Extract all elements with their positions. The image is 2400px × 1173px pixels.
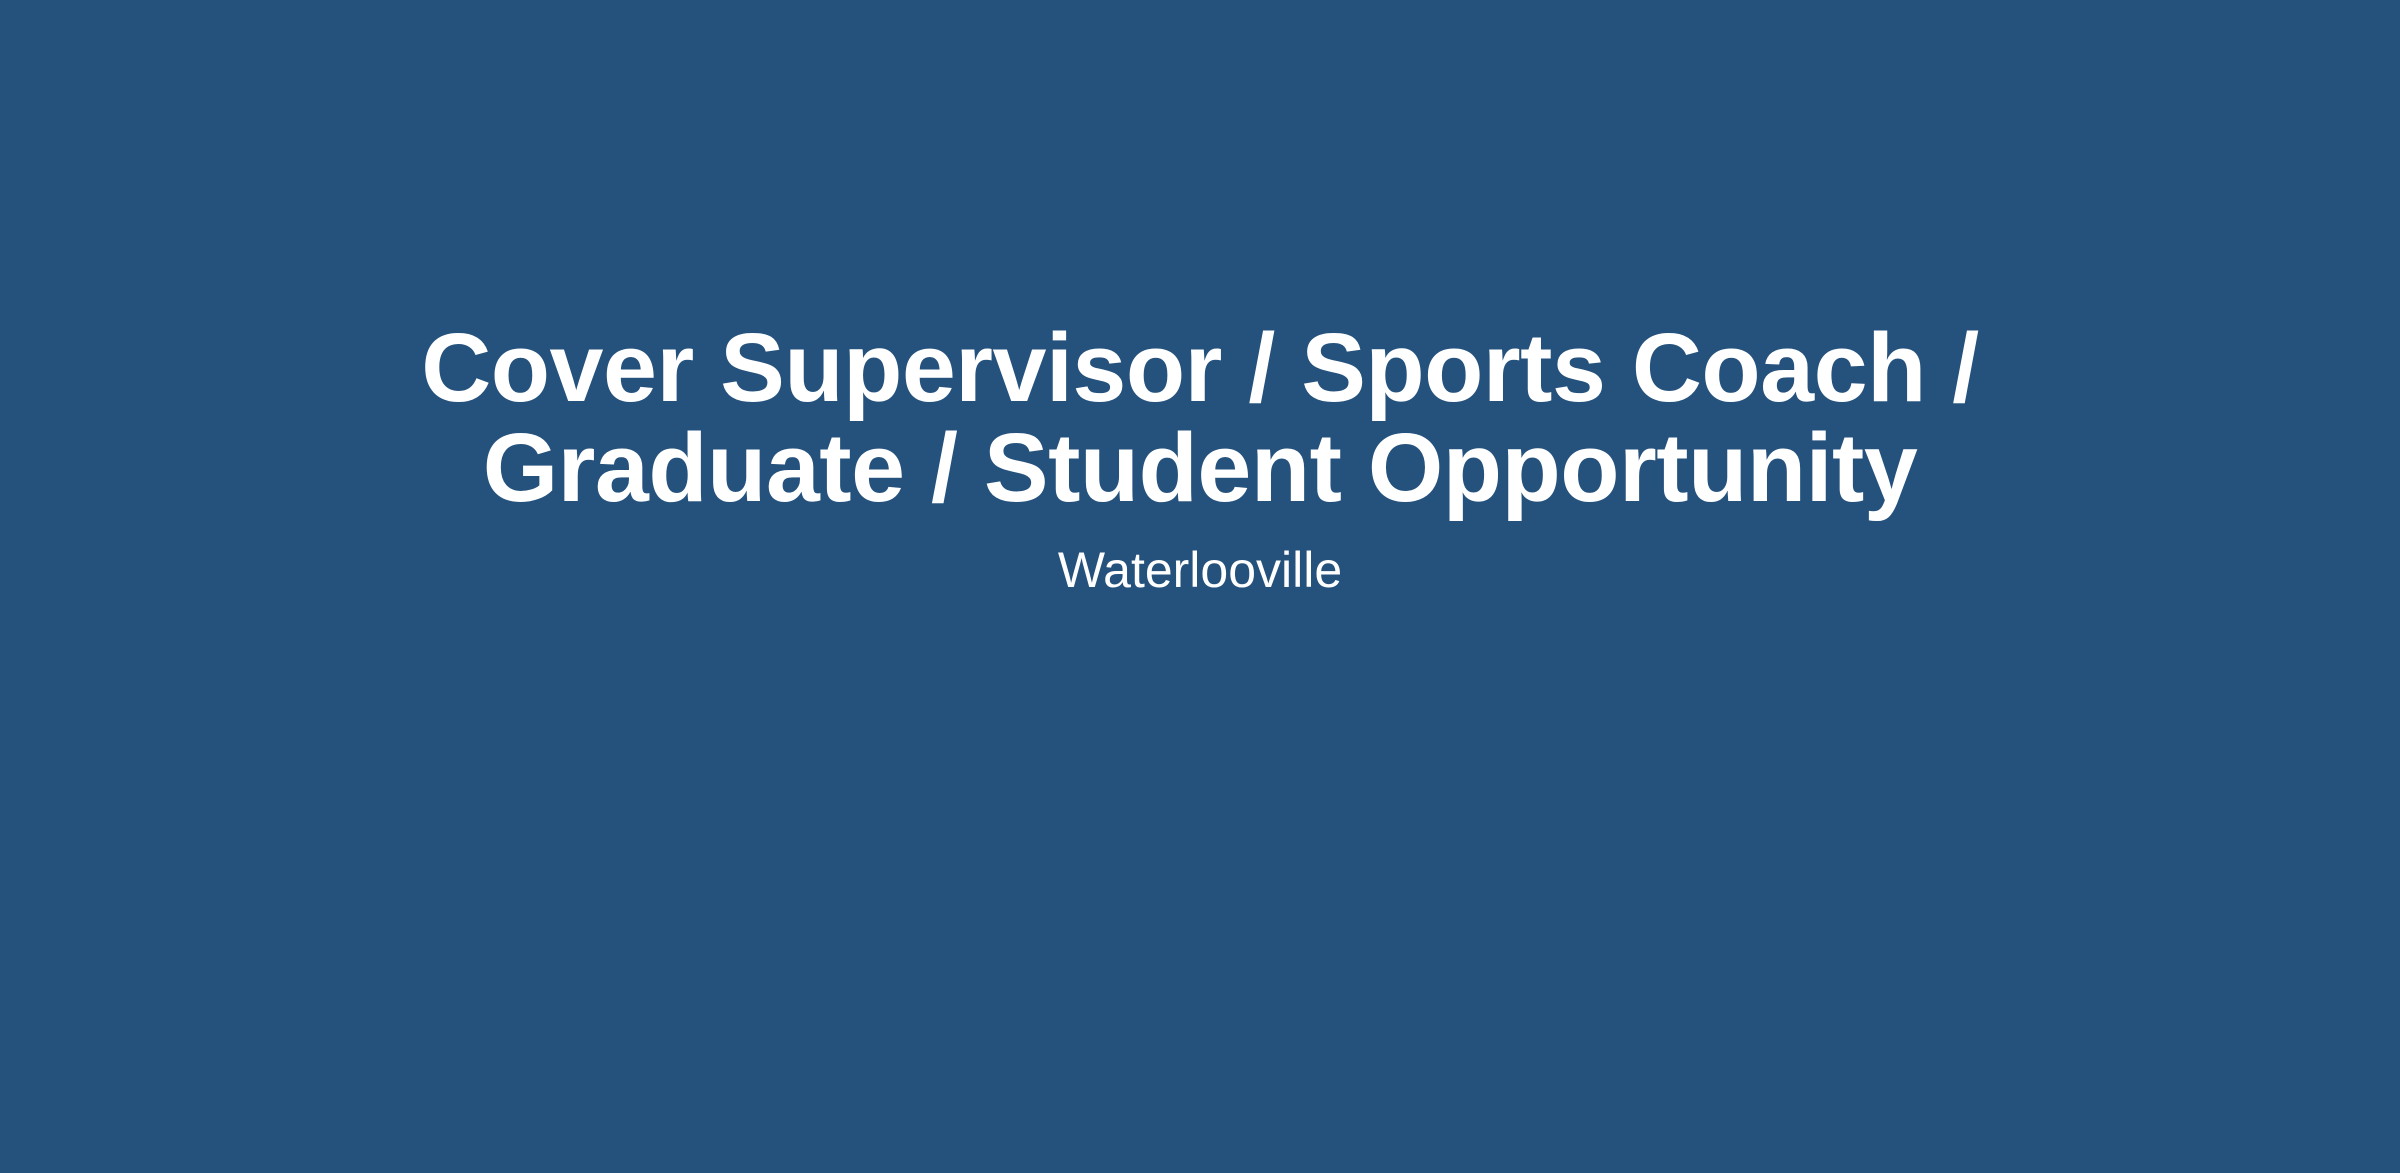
job-posting-card: Cover Supervisor / Sports Coach / Gradua…	[0, 0, 2400, 1173]
job-location: Waterlooville	[1058, 540, 1342, 600]
job-title: Cover Supervisor / Sports Coach / Gradua…	[420, 318, 1980, 518]
job-summary-block: Cover Supervisor / Sports Coach / Gradua…	[0, 318, 2400, 600]
